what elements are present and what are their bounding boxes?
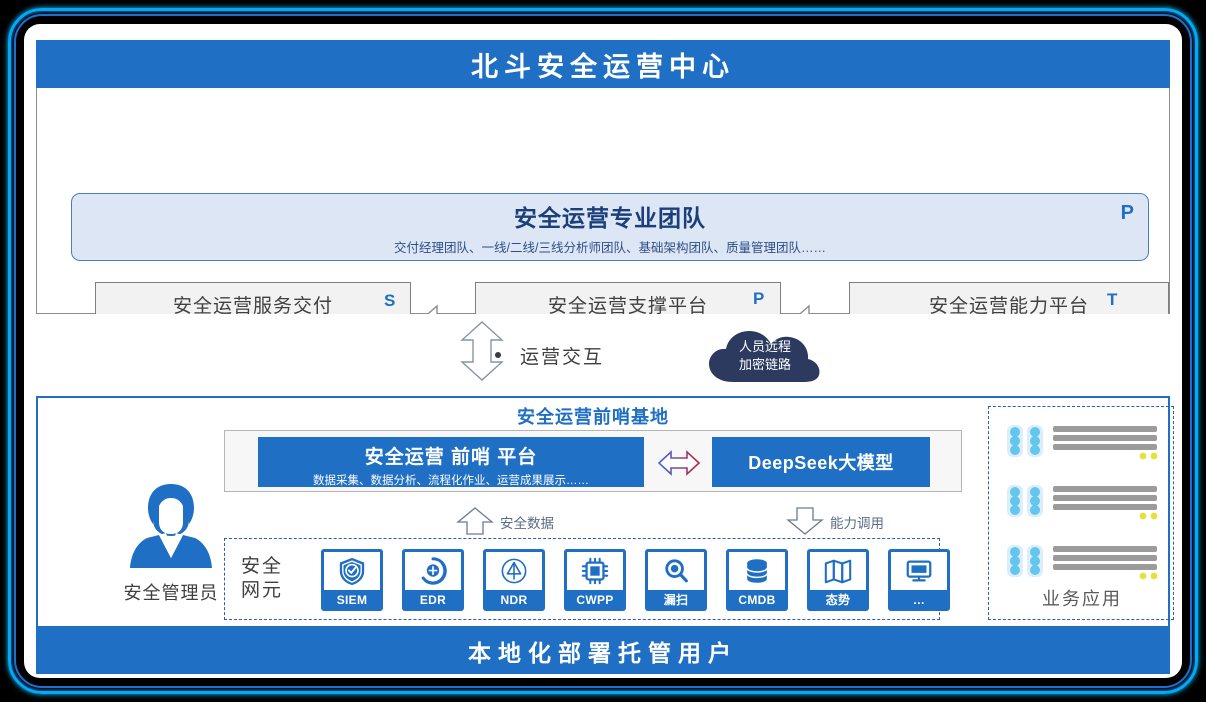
business-applications-group: 业务应用 (988, 406, 1174, 620)
server-rack-icon (1007, 483, 1159, 527)
net-tile-cwpp-label: CWPP (564, 590, 626, 610)
security-admin-avatar-icon (123, 480, 219, 572)
encrypted-link-cloud: 人员远程 加密链路 (707, 328, 823, 386)
monitor-icon (891, 552, 947, 590)
net-tile-more[interactable]: … (888, 549, 950, 611)
net-tile-situation-label: 态势 (807, 590, 869, 610)
net-tile-cwpp[interactable]: CWPP (564, 549, 626, 611)
database-icon (729, 552, 785, 590)
net-tile-more-label: … (888, 590, 950, 610)
forward-platform-card[interactable]: 安全运营 前哨 平台 数据采集、数据分析、流程化作业、运营成果展示…… (258, 437, 644, 487)
security-operations-team-card[interactable]: 安全运营专业团队 交付经理团队、一线/二线/三线分析师团队、基础架构团队、质量管… (71, 193, 1149, 261)
security-data-up-arrow-icon (456, 506, 494, 536)
capability-invoke-label: 能力调用 (830, 512, 884, 532)
net-element-label-line-1: 安全 (241, 555, 297, 579)
net-tile-ndr-label: NDR (483, 590, 545, 610)
capability-platform-badge: T (1107, 290, 1117, 310)
interaction-label: 运营交互 (520, 342, 604, 369)
bidirectional-vertical-arrow-icon (460, 320, 504, 382)
page-title: 北斗安全运营中心 (36, 40, 1170, 88)
net-tile-edr-label: EDR (402, 590, 464, 610)
capability-invoke-down-arrow-icon (786, 506, 824, 536)
cloud-line-1: 人员远程 (707, 338, 823, 356)
deepseek-model-card[interactable]: DeepSeek大模型 (712, 437, 930, 487)
diagram-canvas: 北斗安全运营中心 安全运营专业团队 交付经理团队、一线/二线/三线分析师团队、基… (24, 24, 1182, 678)
net-tile-vulnscan[interactable]: 漏扫 (645, 549, 707, 611)
net-tile-ndr[interactable]: NDR (483, 549, 545, 611)
map-icon (810, 552, 866, 590)
security-admin-label: 安全管理员 (100, 579, 242, 605)
net-tile-cmdb-label: CMDB (726, 590, 788, 610)
connector-dot (495, 352, 501, 358)
bidirectional-horizontal-arrow-icon (657, 449, 701, 477)
support-platform-badge: P (753, 289, 764, 309)
server-rack-icon (1007, 543, 1159, 587)
net-element-label: 安全 网元 (241, 555, 297, 603)
shield-check-icon (324, 552, 380, 590)
team-subtitle: 交付经理团队、一线/二线/三线分析师团队、基础架构团队、质量管理团队…… (72, 237, 1148, 256)
net-tile-siem[interactable]: SIEM (321, 549, 383, 611)
net-tile-edr[interactable]: EDR (402, 549, 464, 611)
footer-banner: 本地化部署托管用户 (36, 628, 1170, 674)
magnifier-icon (648, 552, 704, 590)
network-drop-icon (486, 552, 542, 590)
cloud-text: 人员远程 加密链路 (707, 338, 823, 373)
security-data-label: 安全数据 (500, 512, 554, 532)
forward-base-title: 安全运营前哨基地 (224, 402, 962, 429)
server-rack-icon (1007, 423, 1159, 467)
forward-base-inner: 安全运营 前哨 平台 数据采集、数据分析、流程化作业、运营成果展示…… Deep… (224, 430, 962, 492)
net-tile-vulnscan-label: 漏扫 (645, 590, 707, 610)
team-title: 安全运营专业团队 (72, 199, 1148, 233)
local-deployment-panel: 安全管理员 安全运营前哨基地 安全运营 前哨 平台 数据采集、数据分析、流程化作… (36, 396, 1170, 628)
team-badge: P (1121, 202, 1134, 225)
cloud-line-2: 加密链路 (707, 356, 823, 374)
security-net-element-group: 安全 网元 SIEM (224, 538, 940, 620)
business-applications-label: 业务应用 (989, 585, 1175, 611)
net-tile-siem-label: SIEM (321, 590, 383, 610)
forward-platform-subtitle: 数据采集、数据分析、流程化作业、运营成果展示…… (258, 472, 644, 488)
service-delivery-badge: S (384, 291, 395, 311)
workload-grid-icon (567, 552, 623, 590)
net-tile-situation[interactable]: 态势 (807, 549, 869, 611)
forward-base-block: 安全运营前哨基地 安全运营 前哨 平台 数据采集、数据分析、流程化作业、运营成果… (224, 402, 962, 492)
net-tile-cmdb[interactable]: CMDB (726, 549, 788, 611)
endpoint-orbit-icon (405, 552, 461, 590)
security-admin[interactable]: 安全管理员 (100, 480, 242, 606)
soc-upper-panel: 安全运营专业团队 交付经理团队、一线/二线/三线分析师团队、基础架构团队、质量管… (36, 88, 1170, 314)
forward-platform-title: 安全运营 前哨 平台 (258, 442, 644, 469)
net-element-label-line-2: 网元 (241, 579, 297, 603)
